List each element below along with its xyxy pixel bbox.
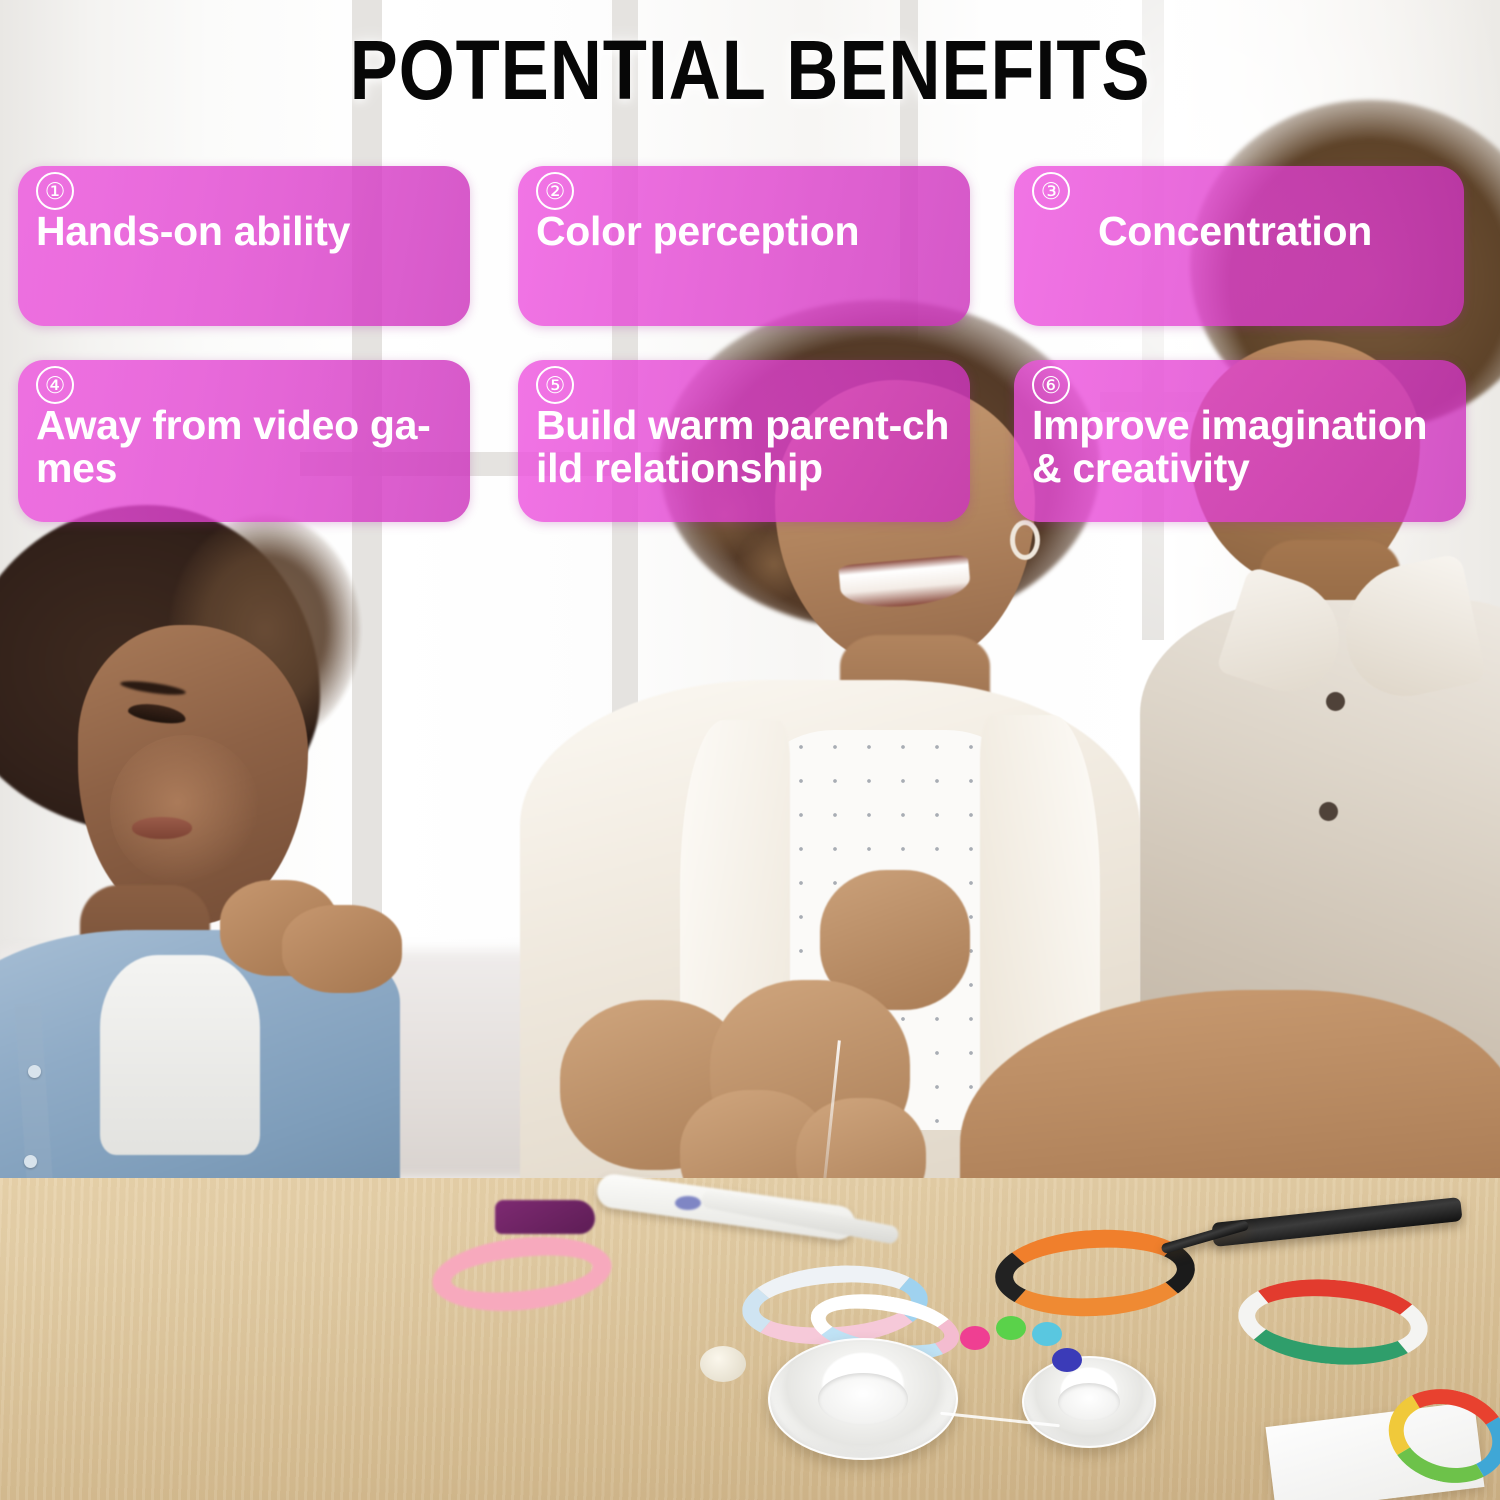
benefit-number-5: ⑤ — [536, 366, 574, 404]
smiley-bead — [1052, 1348, 1082, 1372]
cheek — [110, 735, 260, 885]
shirt-button — [28, 1065, 41, 1078]
benefit-label-2: Color perception — [536, 210, 956, 253]
benefit-badge-3[interactable]: ③ Concentration — [1014, 166, 1464, 326]
smiley-bead — [1032, 1322, 1062, 1346]
benefit-number-3: ③ — [1032, 172, 1070, 210]
benefit-label-5: Build warm parent-child relationship — [536, 404, 956, 489]
page-title: POTENTIAL BENEFITS — [105, 22, 1395, 119]
benefit-label-3: Concentration — [1032, 210, 1450, 253]
earring — [1010, 520, 1040, 560]
benefit-number-6: ⑥ — [1032, 366, 1070, 404]
hand — [282, 905, 402, 993]
benefit-badge-2[interactable]: ② Color perception — [518, 166, 970, 326]
child-left — [0, 505, 430, 1205]
scissors-accent — [675, 1196, 701, 1210]
white-tee — [100, 955, 260, 1155]
child-right — [1130, 430, 1500, 1220]
shirt-button — [1319, 802, 1338, 821]
purple-clip — [495, 1200, 595, 1234]
benefit-label-4: Away from video ga-mes — [36, 404, 456, 489]
benefit-label-1: Hands-on ability — [36, 210, 456, 253]
smiley-bead — [960, 1326, 990, 1350]
pearl-bead — [700, 1346, 746, 1382]
benefit-badge-6[interactable]: ⑥ Improve imagination & creativity — [1014, 360, 1466, 522]
lips — [132, 817, 192, 839]
product-infographic: POTENTIAL BENEFITS ① Hands-on ability ② … — [0, 0, 1500, 1500]
shirt-button — [1326, 692, 1345, 711]
benefit-number-2: ② — [536, 172, 574, 210]
benefit-badge-4[interactable]: ④ Away from video ga-mes — [18, 360, 470, 522]
smiley-bead — [996, 1316, 1026, 1340]
benefit-number-4: ④ — [36, 366, 74, 404]
benefit-number-1: ① — [36, 172, 74, 210]
wooden-table — [0, 1178, 1500, 1500]
elastic-cord-spool-large — [768, 1338, 958, 1460]
benefit-label-6: Improve imagination & creativity — [1032, 404, 1452, 489]
benefit-badge-5[interactable]: ⑤ Build warm parent-child relationship — [518, 360, 970, 522]
elastic-cord-spool-small — [1022, 1356, 1156, 1448]
benefit-badge-1[interactable]: ① Hands-on ability — [18, 166, 470, 326]
shirt-button — [24, 1155, 37, 1168]
